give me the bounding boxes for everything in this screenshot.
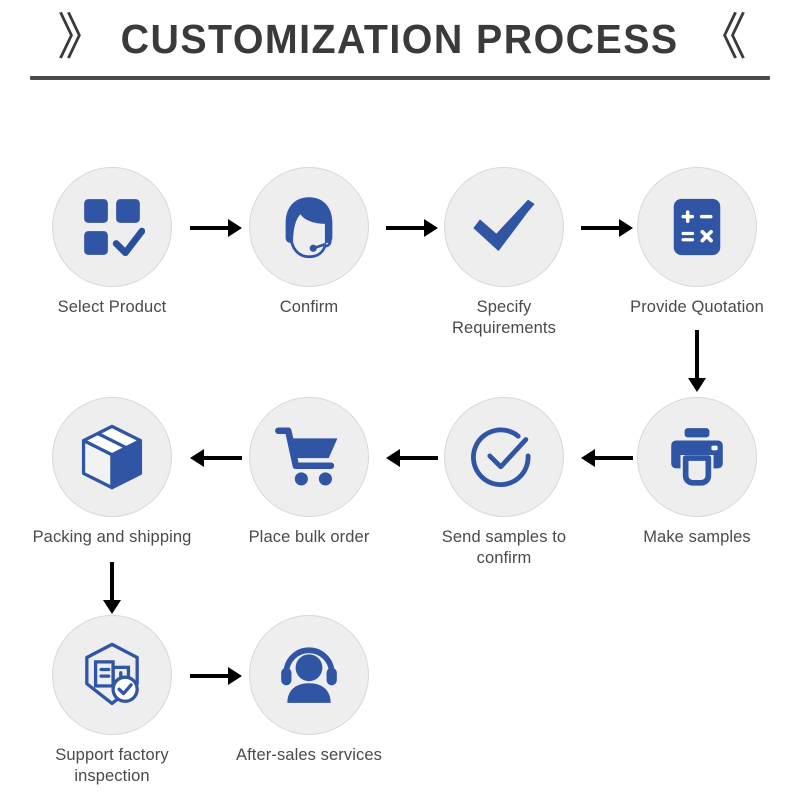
step-icon-circle xyxy=(249,615,369,735)
arrow-head xyxy=(688,378,706,392)
step-node-after-sales-services[interactable]: After-sales services xyxy=(229,615,389,766)
step-label: Send samples to confirm xyxy=(424,527,584,569)
arrow-shaft xyxy=(400,456,438,460)
page-header: 》 CUSTOMIZATION PROCESS 《 xyxy=(0,0,800,92)
connector-arrow-left xyxy=(386,447,438,469)
title-row: 》 CUSTOMIZATION PROCESS 《 xyxy=(0,10,800,68)
arrow-head xyxy=(228,667,242,685)
arrow-shaft xyxy=(190,674,228,678)
arrow-shaft xyxy=(386,226,424,230)
step-label: Specify Requirements xyxy=(424,297,584,339)
arrow-head xyxy=(190,449,204,467)
step-label: After-sales services xyxy=(229,745,389,766)
step-label: Support factory inspection xyxy=(32,745,192,787)
step-node-select-product[interactable]: Select Product xyxy=(32,167,192,318)
connector-arrow-right xyxy=(190,217,242,239)
factory-inspection-icon xyxy=(77,640,147,710)
step-label: Select Product xyxy=(32,297,192,318)
headset-woman-icon xyxy=(275,193,343,261)
step-node-packing-and-shipping[interactable]: Packing and shipping xyxy=(32,397,192,548)
arrow-shaft xyxy=(204,456,242,460)
calculator-icon xyxy=(666,196,728,258)
arrow-head xyxy=(424,219,438,237)
step-icon-circle xyxy=(249,397,369,517)
printer-icon xyxy=(664,424,730,490)
arrow-shaft xyxy=(595,456,633,460)
connector-arrow-right xyxy=(581,217,633,239)
step-node-support-factory-inspection[interactable]: Support factory inspection xyxy=(32,615,192,787)
step-node-confirm[interactable]: Confirm xyxy=(229,167,389,318)
step-icon-circle xyxy=(52,615,172,735)
arrow-head xyxy=(228,219,242,237)
arrow-head xyxy=(581,449,595,467)
package-box-icon xyxy=(77,422,147,492)
step-icon-circle xyxy=(444,397,564,517)
arrow-head xyxy=(386,449,400,467)
step-node-make-samples[interactable]: Make samples xyxy=(617,397,777,548)
title-divider xyxy=(30,76,770,80)
connector-arrow-down xyxy=(101,562,123,614)
step-node-place-bulk-order[interactable]: Place bulk order xyxy=(229,397,389,548)
connector-arrow-right xyxy=(386,217,438,239)
arrow-shaft xyxy=(581,226,619,230)
step-label: Provide Quotation xyxy=(617,297,777,318)
step-icon-circle xyxy=(637,397,757,517)
step-icon-circle xyxy=(52,397,172,517)
customization-process-infographic: 》 CUSTOMIZATION PROCESS 《 Select Product xyxy=(0,0,800,800)
connector-arrow-left xyxy=(190,447,242,469)
checkmark-icon xyxy=(469,192,539,262)
step-icon-circle xyxy=(52,167,172,287)
circle-check-icon xyxy=(469,422,539,492)
arrow-shaft xyxy=(190,226,228,230)
connector-arrow-right xyxy=(190,665,242,687)
arrow-head xyxy=(619,219,633,237)
chevron-right-double-icon: 》 xyxy=(57,12,103,62)
chevron-left-double-icon: 《 xyxy=(697,12,743,62)
arrow-head xyxy=(103,600,121,614)
page-title: CUSTOMIZATION PROCESS xyxy=(121,19,679,60)
step-icon-circle xyxy=(249,167,369,287)
grid-check-icon xyxy=(79,194,145,260)
step-node-provide-quotation[interactable]: Provide Quotation xyxy=(617,167,777,318)
step-label: Confirm xyxy=(229,297,389,318)
step-label: Make samples xyxy=(617,527,777,548)
step-icon-circle xyxy=(637,167,757,287)
arrow-shaft xyxy=(695,330,699,378)
connector-arrow-down xyxy=(686,330,708,392)
arrow-shaft xyxy=(110,562,114,600)
step-icon-circle xyxy=(444,167,564,287)
step-node-specify-requirements[interactable]: Specify Requirements xyxy=(424,167,584,339)
connector-arrow-left xyxy=(581,447,633,469)
step-label: Packing and shipping xyxy=(32,527,192,548)
step-label: Place bulk order xyxy=(229,527,389,548)
step-node-send-samples-to-confirm[interactable]: Send samples to confirm xyxy=(424,397,584,569)
shopping-cart-icon xyxy=(274,422,344,492)
headset-person-icon xyxy=(276,642,342,708)
